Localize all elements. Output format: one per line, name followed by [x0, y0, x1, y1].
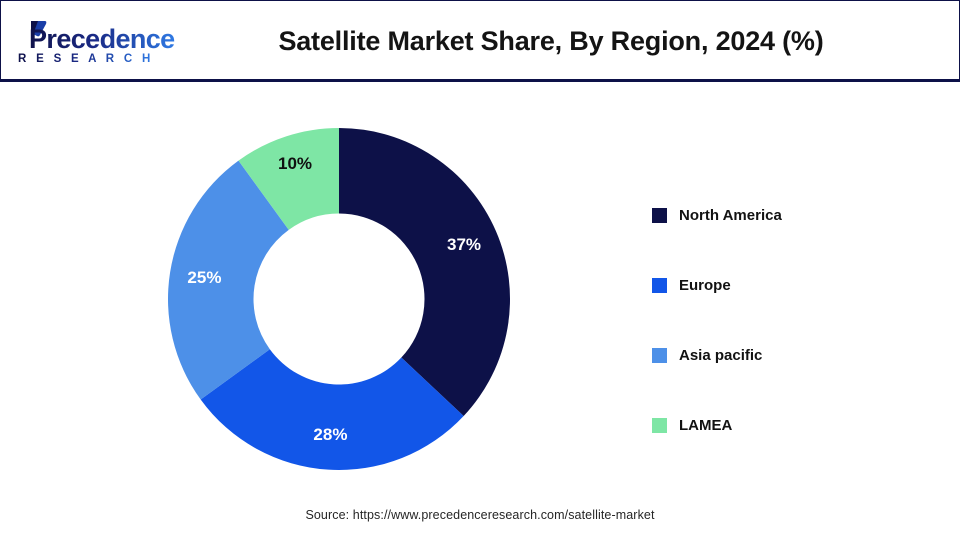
legend-item-lamea[interactable]: LAMEA	[652, 390, 902, 460]
legend-item-europe[interactable]: Europe	[652, 250, 902, 320]
legend-swatch-icon	[652, 348, 667, 363]
precedence-research-logo: Precedence R E S E A R C H	[15, 17, 175, 67]
figure-header: Precedence R E S E A R C H Satellite Mar…	[0, 0, 960, 81]
chart-legend: North AmericaEuropeAsia pacificLAMEA	[652, 180, 902, 460]
legend-item-label: LAMEA	[679, 417, 732, 434]
chart-figure: Precedence R E S E A R C H Satellite Mar…	[0, 0, 960, 540]
legend-item-label: North America	[679, 207, 782, 224]
legend-item-label: Europe	[679, 277, 731, 294]
source-note: Source: https://www.precedenceresearch.c…	[0, 508, 960, 522]
page-title: Satellite Market Share, By Region, 2024 …	[191, 1, 911, 81]
svg-text:R E S E A R C H: R E S E A R C H	[18, 53, 154, 65]
svg-text:Precedence: Precedence	[29, 24, 175, 54]
legend-item-north-america[interactable]: North America	[652, 180, 902, 250]
legend-item-asia-pacific[interactable]: Asia pacific	[652, 320, 902, 390]
legend-swatch-icon	[652, 418, 667, 433]
legend-swatch-icon	[652, 278, 667, 293]
donut-chart: 37%28%25%10%	[168, 128, 510, 470]
legend-swatch-icon	[652, 208, 667, 223]
legend-item-label: Asia pacific	[679, 347, 762, 364]
donut-svg	[168, 128, 510, 470]
donut-slice	[339, 128, 510, 416]
chart-body: 37%28%25%10% North AmericaEuropeAsia pac…	[0, 82, 960, 540]
